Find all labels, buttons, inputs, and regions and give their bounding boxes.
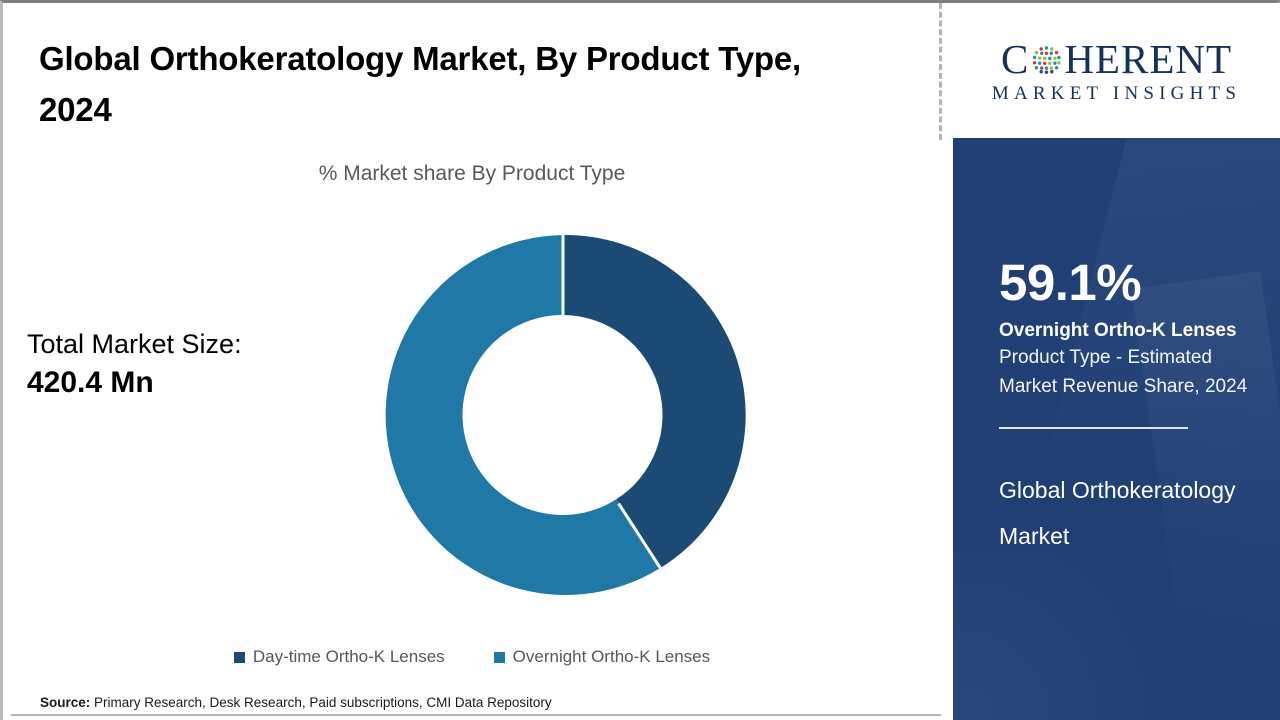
highlight-panel-content: 59.1% Overnight Ortho-K Lenses Product T… bbox=[953, 138, 1280, 559]
page-title: Global Orthokeratology Market, By Produc… bbox=[39, 33, 859, 136]
source-note: Source: Primary Research, Desk Research,… bbox=[40, 695, 552, 710]
report-title: Global Orthokeratology Market bbox=[999, 468, 1252, 559]
chart-subtitle: % Market share By Product Type bbox=[3, 162, 941, 186]
brand-logo-tagline: MARKET INSIGHTS bbox=[992, 84, 1241, 103]
donut-chart: xx.x% 59.1% bbox=[379, 231, 747, 599]
highlight-panel: 59.1% Overnight Ortho-K Lenses Product T… bbox=[953, 138, 1280, 720]
brand-logo: C bbox=[953, 3, 1280, 138]
total-market-size: Total Market Size: 420.4 Mn bbox=[27, 325, 242, 402]
legend-item-overnight[interactable]: Overnight Ortho-K Lenses bbox=[494, 647, 710, 667]
brand-logo-wordmark: C bbox=[1001, 39, 1232, 80]
vertical-dashed-divider bbox=[939, 3, 942, 140]
panel-divider bbox=[999, 427, 1188, 429]
infographic-page: Global Orthokeratology Market, By Produc… bbox=[0, 0, 1280, 720]
stat-name: Overnight Ortho-K Lenses bbox=[999, 319, 1252, 342]
panel-background-shape-c bbox=[953, 550, 1143, 720]
stat-description: Product Type - Estimated Market Revenue … bbox=[999, 343, 1252, 401]
legend-label-overnight: Overnight Ortho-K Lenses bbox=[513, 647, 710, 667]
legend-swatch-icon-daytime bbox=[234, 652, 245, 663]
stat-value: 59.1% bbox=[999, 257, 1252, 309]
dotted-globe-icon bbox=[1030, 43, 1063, 76]
total-market-size-value: 420.4 Mn bbox=[27, 363, 242, 402]
brand-logo-letters-herent: HERENT bbox=[1064, 39, 1232, 80]
legend-swatch-icon-overnight bbox=[494, 652, 505, 663]
legend-label-daytime: Day-time Ortho-K Lenses bbox=[253, 647, 445, 667]
donut-label-daytime: xx.x% bbox=[676, 593, 720, 611]
source-label: Source: bbox=[40, 695, 90, 710]
source-text: Primary Research, Desk Research, Paid su… bbox=[90, 695, 551, 710]
total-market-size-label: Total Market Size: bbox=[27, 325, 242, 363]
donut-slices bbox=[386, 235, 746, 595]
brand-logo-letter-c: C bbox=[1001, 39, 1029, 80]
chart-pane: Global Orthokeratology Market, By Produc… bbox=[3, 3, 941, 720]
donut-label-overnight: 59.1% bbox=[389, 674, 433, 692]
chart-legend: Day-time Ortho-K Lenses Overnight Ortho-… bbox=[3, 647, 941, 667]
donut-chart-svg bbox=[379, 231, 747, 599]
source-divider bbox=[11, 714, 941, 716]
legend-item-daytime[interactable]: Day-time Ortho-K Lenses bbox=[234, 647, 445, 667]
